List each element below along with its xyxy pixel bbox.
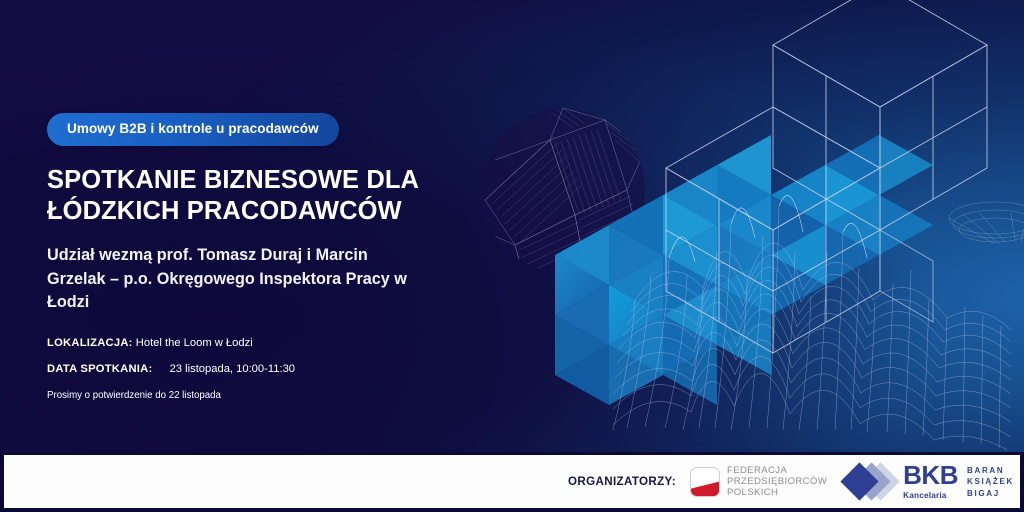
fpp-line-3: POLSKICH xyxy=(727,487,778,498)
bkb-name-2: KSIĄŻEK xyxy=(967,477,1014,486)
topic-badge: Umowy B2B i kontrole u pracodawców xyxy=(47,113,339,146)
event-details: LOKALIZACJA: Hotel the Loom w Łodzi DATA… xyxy=(47,337,467,401)
banner-content: Umowy B2B i kontrole u pracodawców SPOTK… xyxy=(47,113,467,401)
event-banner: Umowy B2B i kontrole u pracodawców SPOTK… xyxy=(0,0,1024,512)
date-row: DATA SPOTKANIA: 23 listopada, 10:00-11:3… xyxy=(47,363,467,375)
date-label: DATA SPOTKANIA: xyxy=(47,363,152,375)
bkb-partner-names: BARAN KSIĄŻEK BIGAJ xyxy=(967,465,1014,499)
fpp-wordmark: FEDERACJA PRZEDSIĘBIORCÓW POLSKICH xyxy=(727,465,827,499)
organizers-label: ORGANIZATORZY: xyxy=(568,475,676,488)
location-value: Hotel the Loom w Łodzi xyxy=(136,337,253,349)
bkb-diamond-icon xyxy=(843,461,897,503)
fpp-line-2: PRZEDSIĘBIORCÓW xyxy=(727,476,827,487)
bkb-name-1: BARAN xyxy=(967,466,1004,475)
bkb-subtitle: Kancelaria xyxy=(903,491,958,500)
footer-inner: ORGANIZATORZY: FEDERACJA PRZEDSIĘBIORCÓW… xyxy=(4,455,1020,508)
logo-bkb-kancelaria: BKB Kancelaria BARAN KSIĄŻEK BIGAJ xyxy=(843,461,1014,503)
logo-federacja-przedsiebiorcow-polskich: FEDERACJA PRZEDSIĘBIORCÓW POLSKICH xyxy=(690,465,827,499)
mesh-ellipse-fragment xyxy=(949,202,1024,244)
footer-bar: ORGANIZATORZY: FEDERACJA PRZEDSIĘBIORCÓW… xyxy=(0,452,1024,512)
location-row: LOKALIZACJA: Hotel the Loom w Łodzi xyxy=(47,337,467,349)
rsvp-note: Prosimy o potwierdzenie do 22 listopada xyxy=(47,390,467,401)
date-value: 23 listopada, 10:00-11:30 xyxy=(170,363,295,375)
fpp-line-1: FEDERACJA xyxy=(727,465,787,476)
location-label: LOKALIZACJA: xyxy=(47,337,133,349)
bkb-name-3: BIGAJ xyxy=(967,489,1000,498)
bkb-wordmark-block: BKB Kancelaria xyxy=(903,463,958,500)
polish-flag-icon xyxy=(690,467,720,497)
abstract-geometry-artwork xyxy=(455,0,1024,452)
bkb-wordmark: BKB xyxy=(903,460,958,490)
speakers-text: Udział wezmą prof. Tomasz Duraj i Marcin… xyxy=(47,244,419,315)
page-title: SPOTKANIE BIZNESOWE DLA ŁÓDZKICH PRACODA… xyxy=(47,165,432,228)
